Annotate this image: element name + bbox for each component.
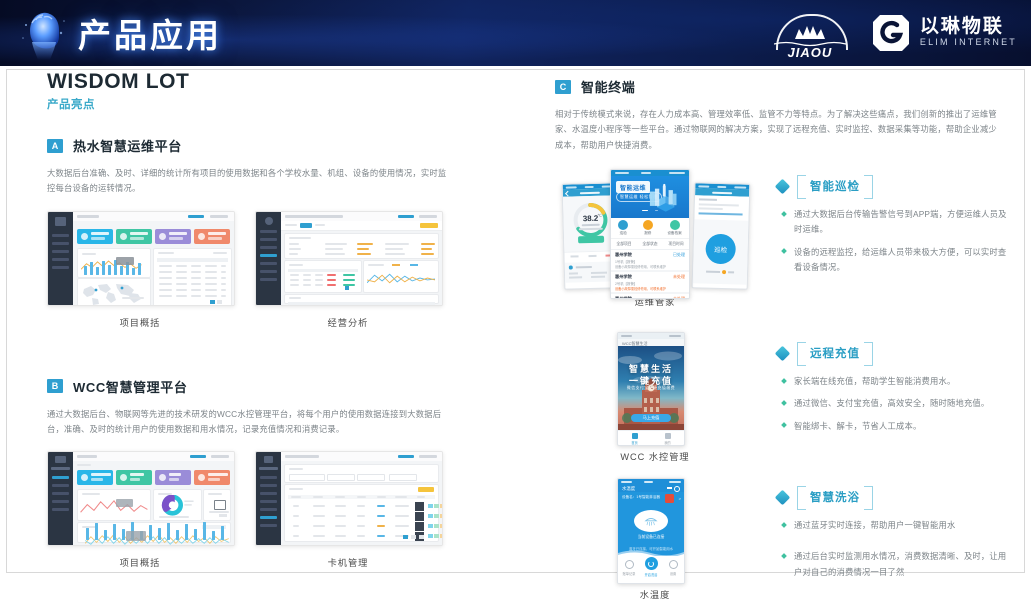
page-title: WISDOM LOT (47, 70, 467, 94)
section-c-header: C 智能终端 (555, 77, 1010, 96)
thumb-gauge-card (203, 489, 231, 521)
phone-temp-unit: ℃ (597, 213, 602, 218)
phone-wt-tabbar: 账单记录 开启洗浴 设置 (618, 556, 684, 584)
feature-remote-recharge: WCC智慧生活 (555, 332, 1010, 460)
thumb-status-table (284, 260, 362, 293)
thumbnail-image-business-analysis[interactable] (255, 211, 443, 306)
quick-action-label: 设备档案 (667, 231, 681, 236)
filter-time[interactable]: 项目时间 (663, 242, 689, 247)
bullet-item: 通过后台实时监测用水情况，消费数据清晰、及时，让用户对自己的消费情况一目了然 (781, 549, 1010, 580)
bullet-item: 通过蓝牙实时连接，帮助用户一键智能用水 (781, 518, 1010, 533)
feature-heading-remote-recharge: 远程充值 (797, 342, 873, 364)
bullet-item: 家长端在线充值，帮助学生智能消费用水。 (781, 374, 1010, 389)
thumb-summary-card (284, 233, 439, 259)
thumbnail-image-dashboard-overview[interactable] (47, 211, 235, 306)
thumb-bottom-table (284, 294, 439, 304)
elim-name-cn: 以琳物联 (920, 17, 1017, 37)
elim-name-en: ELIM INTERNET (920, 37, 1017, 49)
bullet-item: 通过大数据后台传输告警信号到APP端，方便运维人员及时运维。 (781, 207, 1010, 238)
section-b-thumbnails: 项目概括 (47, 451, 467, 569)
elim-wordmark: 以琳物联 ELIM INTERNET (920, 17, 1017, 49)
content-sheet: WISDOM LOT 产品亮点 A 热水智慧运维平台 大数据后台准确、及时、详细… (6, 69, 1025, 573)
thumb-map-card (77, 278, 151, 306)
right-column: C 智能终端 相对于传统模式来说，存在人力成本高、管理效率低、监管不力等特点。为… (555, 73, 1010, 598)
phone-wt-device: 设备名：1号智能淋浴器 (622, 495, 660, 500)
bullet-item: 设备的远程监控，给运维人员带来极大方便，可以实时查看设备情况。 (781, 245, 1010, 276)
thumb-kpi-1 (77, 470, 113, 485)
tab-label: 开启洗浴 (640, 572, 662, 577)
diamond-icon (775, 345, 791, 361)
filter-project[interactable]: 全部项目 (611, 242, 637, 247)
section-c-title: 智能终端 (581, 77, 635, 96)
section-b-description: 通过大数据后台、物联网等先进的技术研发的WCC水控管理平台，将每个用户的使用数据… (47, 407, 447, 438)
banner-title: 产品应用 (78, 9, 222, 57)
thumb-filter-card (284, 464, 439, 483)
thumb-kpi-4 (194, 470, 230, 485)
quick-action-repair[interactable]: 报修 (643, 220, 653, 236)
thumb-sidebar (48, 212, 73, 305)
phone-wt-badge-icon[interactable] (665, 494, 674, 503)
phone-group-ops-butler: 38.2 ℃ (555, 169, 755, 304)
tab-settings[interactable]: 设置 (662, 560, 684, 576)
tab-mine[interactable]: 我的 (651, 431, 684, 444)
thumb-kpi-3 (155, 229, 191, 244)
section-a-description: 大数据后台准确、及时、详细的统计所有项目的使用数据和各个学校水量、机组、设备的使… (47, 166, 447, 197)
bullet-item: 智能绑卡、解卡，节省人工成本。 (781, 419, 1010, 434)
section-badge-a: A (47, 139, 63, 153)
thumbnail-image-dashboard-charts[interactable] (47, 451, 235, 546)
thumb-kpi-4 (194, 229, 230, 244)
section-a-title: 热水智慧运维平台 (73, 136, 182, 155)
thumb-line-chart-card (363, 260, 439, 293)
thumb-bar-chart-card (77, 248, 151, 278)
alert-item[interactable]: 惠州学院 已处理 1号机【报警】 设备小故障需检修停用，可联系维护 (611, 250, 689, 270)
feature-smart-inspection: 38.2 ℃ (555, 169, 1010, 304)
phone-water-temperature[interactable]: 水温度 设备名：1号智能淋浴器 > (617, 478, 685, 584)
phone-recharge-cta[interactable]: 马上充值 (631, 414, 671, 422)
thumbnail-card-machine[interactable]: 卡机管理 (255, 451, 441, 569)
product-application-page: 产品应用 JIAOU 以琳物联 ELIM INTERNE (0, 0, 1031, 579)
thumb-canvas (281, 461, 442, 545)
diamond-icon (775, 178, 791, 194)
left-column: WISDOM LOT 产品亮点 A 热水智慧运维平台 大数据后台准确、及时、详细… (47, 70, 467, 569)
phone-tabbar: 首页 我的 (618, 430, 684, 444)
phone-wcc-home[interactable]: WCC智慧生活 (617, 332, 685, 446)
feature-text-remote-recharge: 远程充值 家长端在线充值，帮助学生智能消费用水。 通过微信、支付宝充值，高效安全… (755, 332, 1010, 441)
feature-title-row: 智慧洗浴 (777, 486, 1010, 508)
quick-action-archive[interactable]: 设备档案 (667, 220, 681, 236)
section-b-header: B WCC智慧管理平台 (47, 377, 467, 396)
section-c-description: 相对于传统模式来说，存在人力成本高、管理效率低、监管不力等特点。为了解决这些痛点… (555, 107, 1005, 153)
jiaou-wordmark: JIAOU (768, 45, 852, 60)
diamond-icon (775, 489, 791, 505)
tab-label: 账单记录 (618, 571, 640, 576)
thumb-combo-chart-card (77, 522, 231, 543)
feature-smart-bathing: 水温度 设备名：1号智能淋浴器 > (555, 478, 1010, 598)
phone-wt-body: 设备名：1号智能淋浴器 > (618, 492, 684, 556)
thumb-table-card (153, 248, 232, 306)
thumb-data-table (284, 484, 439, 542)
alert-status: 已处理 (673, 252, 685, 258)
alert-item[interactable]: 惠州学院 未处理 2号机【报警】 设备小故障需检修停用，可联系维护 (611, 272, 689, 292)
feature-bullets-smart-inspection: 通过大数据后台传输告警信号到APP端，方便运维人员及时运维。 设备的远程监控，给… (781, 207, 1010, 275)
banner-logos: JIAOU 以琳物联 ELIM INTERNET (768, 5, 1017, 61)
thumb-canvas (73, 461, 234, 545)
tab-bill-record[interactable]: 账单记录 (618, 560, 640, 576)
feature-text-smart-bathing: 智慧洗浴 通过蓝牙实时连接，帮助用户一键智能用水 通过后台实时监测用水情况，消费… (755, 478, 1010, 587)
phone-group-water-temp: 水温度 设备名：1号智能淋浴器 > (555, 478, 755, 598)
phone-wcc-poster: 智慧生活 一键充值 微信支付宝便捷充值缴费 马上充值 (618, 346, 684, 430)
phone-alert-list: 惠州学院 已处理 1号机【报警】 设备小故障需检修停用，可联系维护 惠州学院 未… (611, 250, 689, 299)
thumb-canvas (73, 221, 234, 305)
section-a-header: A 热水智慧运维平台 (47, 136, 467, 155)
phone-quick-actions: 巡检 报修 设备档案 (611, 218, 689, 239)
feature-caption-water-temp: 水温度 (555, 587, 755, 601)
section-badge-c: C (555, 80, 571, 94)
tab-label: 首页 (618, 440, 651, 445)
thumbnail-project-overview-2[interactable]: 项目概括 (47, 451, 233, 569)
phone-inspection-circle[interactable]: 巡检 (692, 182, 751, 289)
thumbnail-image-card-machine-table[interactable] (255, 451, 443, 546)
bullet-item: 通过微信、支付宝充值，高效安全，随时随地充值。 (781, 396, 1010, 411)
elim-logo: 以琳物联 ELIM INTERNET (870, 12, 1017, 54)
thumb-line-card (77, 489, 151, 521)
thumb-pie-card (153, 489, 202, 521)
section-a-thumbnails: 项目概括 (47, 211, 467, 329)
phone-group-wcc: WCC智慧生活 (555, 332, 755, 460)
quick-action-label: 报修 (643, 231, 653, 236)
feature-bullets-smart-bathing: 通过蓝牙实时连接，帮助用户一键智能用水 通过后台实时监测用水情况，消费数据清晰、… (781, 518, 1010, 580)
page-banner: 产品应用 JIAOU 以琳物联 ELIM INTERNE (0, 0, 1031, 66)
alert-status: 未处理 (673, 274, 685, 280)
tab-label: 设置 (662, 571, 684, 576)
thumbnail-caption: 卡机管理 (255, 555, 441, 569)
thumb-canvas (281, 221, 442, 305)
feature-title-row: 智能巡检 (777, 175, 1010, 197)
thumbnail-caption: 经营分析 (255, 315, 441, 329)
feature-title-row: 远程充值 (777, 342, 1010, 364)
thumbnail-project-overview[interactable]: 项目概括 (47, 211, 233, 329)
page-subtitle: 产品亮点 (47, 96, 467, 112)
feature-heading-smart-inspection: 智能巡检 (797, 175, 873, 197)
jiaou-crown-icon (794, 25, 826, 40)
shower-head-icon (634, 510, 668, 532)
feature-bullets-remote-recharge: 家长端在线充值，帮助学生智能消费用水。 通过微信、支付宝充值，高效安全，随时随地… (781, 374, 1010, 434)
elim-g-logo-icon (870, 12, 912, 54)
section-badge-b: B (47, 379, 63, 393)
feature-heading-smart-bathing: 智慧洗浴 (797, 486, 873, 508)
phone-ops-butler-home[interactable]: 智能运维 智慧运维 轻松管理 (610, 169, 690, 299)
phone-wt-status: 当前设备已连接 (618, 535, 684, 540)
phone-hero-sub: 微信支付宝便捷充值缴费 (618, 386, 684, 391)
phone-hero: 智能运维 智慧运维 轻松管理 (611, 176, 689, 218)
section-b-title: WCC智慧管理平台 (73, 377, 187, 396)
tab-home[interactable]: 首页 (618, 431, 651, 444)
thumb-kpi-1 (77, 229, 113, 244)
thumb-sidebar (48, 452, 73, 545)
thumb-sidebar (256, 452, 281, 545)
thumb-kpi-3 (155, 470, 191, 485)
thumb-kpi-2 (116, 470, 152, 485)
filter-status[interactable]: 全部状态 (637, 242, 663, 247)
alert-status: 未处理 (673, 296, 685, 299)
phone-inspect-button[interactable]: 巡检 (705, 234, 736, 265)
fist-icon (14, 3, 72, 63)
thumb-kpi-2 (116, 229, 152, 244)
tab-start-bathing[interactable]: 开启洗浴 (640, 560, 662, 577)
phone-filter-bar: 全部项目 全部状态 项目时间 (611, 239, 689, 250)
thumbnail-caption: 项目概括 (47, 315, 233, 329)
feature-caption-wcc: WCC 水控管理 (555, 449, 755, 463)
feature-text-smart-inspection: 智能巡检 通过大数据后台传输告警信号到APP端，方便运维人员及时运维。 设备的远… (755, 169, 1010, 282)
alert-item[interactable]: 惠州学院 未处理 (611, 294, 689, 299)
thumb-sidebar (256, 212, 281, 305)
quick-action-inspect[interactable]: 巡检 (618, 220, 628, 236)
thumbnail-caption: 项目概括 (47, 555, 233, 569)
tab-label: 我的 (651, 440, 684, 445)
jiaou-logo: JIAOU (768, 8, 852, 58)
thumbnail-business-analysis[interactable]: 经营分析 (255, 211, 441, 329)
quick-action-label: 巡检 (618, 231, 628, 236)
